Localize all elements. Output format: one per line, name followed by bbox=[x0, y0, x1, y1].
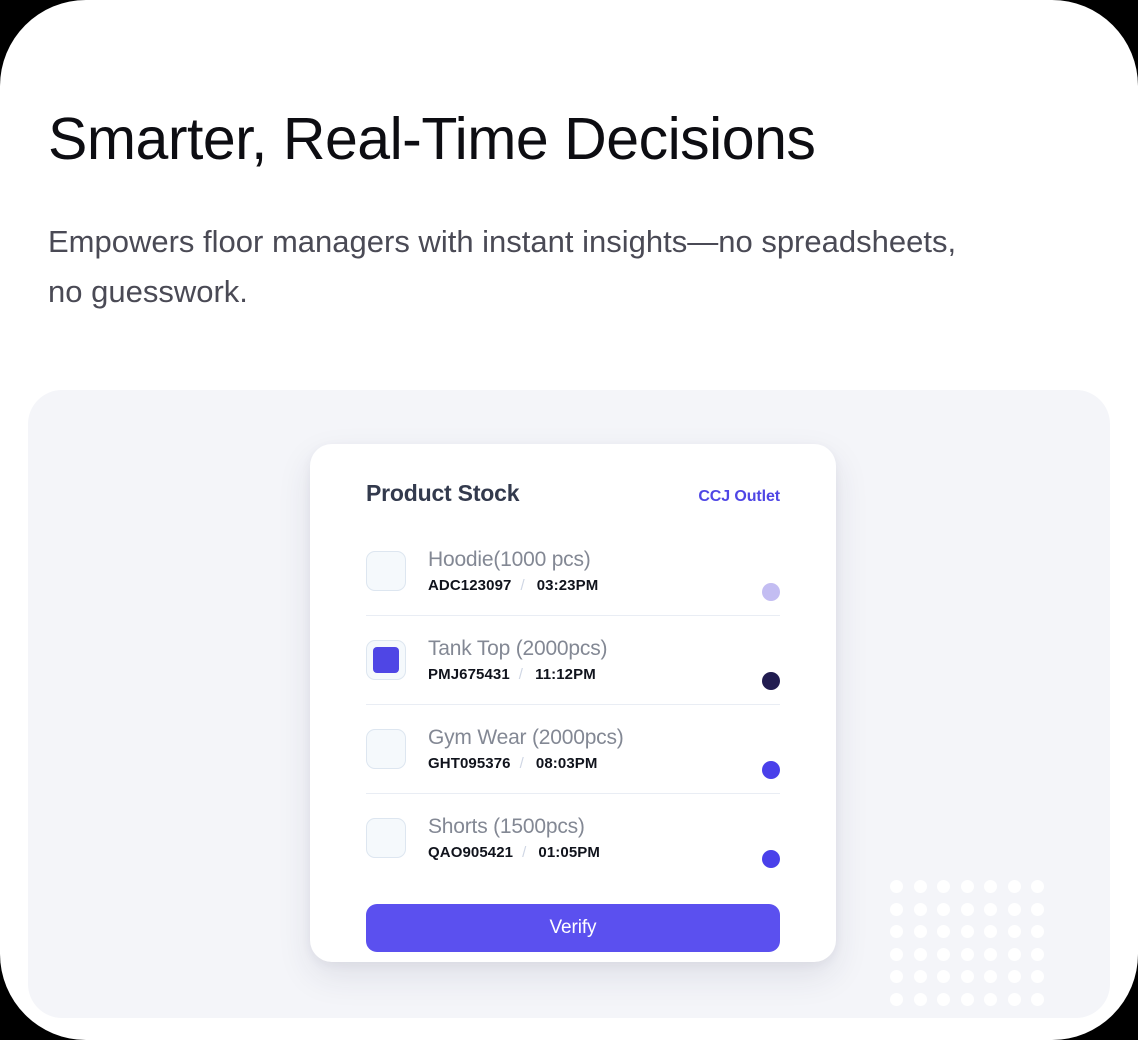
table-row[interactable]: Tank Top (2000pcs) PMJ675431/11:12PM bbox=[366, 616, 780, 705]
product-meta: QAO905421/01:05PM bbox=[428, 844, 762, 861]
row-checkbox[interactable] bbox=[366, 818, 406, 858]
decoration-dot bbox=[1031, 993, 1044, 1006]
page-subtitle: Empowers floor managers with instant ins… bbox=[48, 217, 988, 317]
product-time: 08:03PM bbox=[536, 755, 598, 772]
decoration-dot bbox=[984, 880, 997, 893]
decoration-dot bbox=[914, 925, 927, 938]
product-meta: GHT095376/08:03PM bbox=[428, 755, 762, 772]
decoration-dot bbox=[1031, 948, 1044, 961]
page-title: Smarter, Real-Time Decisions bbox=[48, 106, 1008, 172]
product-name: Tank Top (2000pcs) bbox=[428, 637, 762, 661]
decoration-dot bbox=[937, 948, 950, 961]
row-text: Hoodie(1000 pcs) ADC123097/03:23PM bbox=[428, 548, 762, 594]
decoration-dot bbox=[1031, 903, 1044, 916]
decoration-dot bbox=[1008, 948, 1021, 961]
product-name: Gym Wear (2000pcs) bbox=[428, 726, 762, 750]
decoration-dot bbox=[914, 948, 927, 961]
product-meta: ADC123097/03:23PM bbox=[428, 577, 762, 594]
decoration-dot bbox=[914, 970, 927, 983]
product-time: 11:12PM bbox=[535, 666, 596, 683]
checkbox-fill bbox=[373, 736, 399, 762]
product-stock-card: Product Stock CCJ Outlet Hoodie(1000 pcs… bbox=[310, 444, 836, 962]
decoration-dot bbox=[984, 948, 997, 961]
row-checkbox[interactable] bbox=[366, 551, 406, 591]
card-title: Product Stock bbox=[366, 480, 519, 507]
decoration-dot bbox=[984, 903, 997, 916]
decoration-dot bbox=[890, 903, 903, 916]
decoration-dot bbox=[890, 880, 903, 893]
decoration-dot bbox=[1031, 970, 1044, 983]
row-text: Gym Wear (2000pcs) GHT095376/08:03PM bbox=[428, 726, 762, 772]
decoration-dot bbox=[937, 903, 950, 916]
decoration-dot bbox=[961, 948, 974, 961]
card-header: Product Stock CCJ Outlet bbox=[366, 480, 780, 507]
product-row-list: Hoodie(1000 pcs) ADC123097/03:23PM Tank … bbox=[366, 527, 780, 882]
decoration-dot bbox=[890, 993, 903, 1006]
verify-button[interactable]: Verify bbox=[366, 904, 780, 952]
decoration-dot bbox=[961, 925, 974, 938]
meta-separator: / bbox=[519, 666, 523, 683]
table-row[interactable]: Hoodie(1000 pcs) ADC123097/03:23PM bbox=[366, 527, 780, 616]
decoration-dot bbox=[890, 970, 903, 983]
decoration-dot bbox=[1031, 925, 1044, 938]
decoration-dot bbox=[937, 880, 950, 893]
decoration-dot bbox=[937, 925, 950, 938]
meta-separator: / bbox=[522, 844, 526, 861]
row-text: Shorts (1500pcs) QAO905421/01:05PM bbox=[428, 815, 762, 861]
product-sku: QAO905421 bbox=[428, 844, 513, 861]
product-name: Shorts (1500pcs) bbox=[428, 815, 762, 839]
decoration-dot bbox=[1008, 903, 1021, 916]
decoration-dot bbox=[914, 993, 927, 1006]
checkbox-fill bbox=[373, 647, 399, 673]
product-meta: PMJ675431/11:12PM bbox=[428, 666, 762, 683]
product-name: Hoodie(1000 pcs) bbox=[428, 548, 762, 572]
decoration-dot bbox=[984, 970, 997, 983]
decoration-dot bbox=[914, 880, 927, 893]
product-sku: ADC123097 bbox=[428, 577, 511, 594]
decoration-dot bbox=[961, 903, 974, 916]
product-time: 03:23PM bbox=[537, 577, 599, 594]
status-dot-icon bbox=[762, 850, 780, 868]
meta-separator: / bbox=[520, 577, 524, 594]
decoration-dot bbox=[937, 993, 950, 1006]
decoration-dot bbox=[1008, 925, 1021, 938]
status-dot-icon bbox=[762, 672, 780, 690]
decoration-dot bbox=[890, 948, 903, 961]
decoration-dot bbox=[961, 993, 974, 1006]
product-time: 01:05PM bbox=[538, 844, 600, 861]
page-root: Smarter, Real-Time Decisions Empowers fl… bbox=[0, 0, 1138, 1040]
decoration-dot bbox=[1008, 993, 1021, 1006]
decoration-dot bbox=[1008, 970, 1021, 983]
product-sku: PMJ675431 bbox=[428, 666, 510, 683]
checkbox-fill bbox=[373, 558, 399, 584]
status-dot-icon bbox=[762, 583, 780, 601]
meta-separator: / bbox=[520, 755, 524, 772]
decoration-dot bbox=[937, 970, 950, 983]
decoration-dot bbox=[914, 903, 927, 916]
dot-grid-right-decoration bbox=[890, 880, 1055, 1015]
decoration-dot bbox=[961, 970, 974, 983]
decoration-dot bbox=[1008, 880, 1021, 893]
table-row[interactable]: Shorts (1500pcs) QAO905421/01:05PM bbox=[366, 794, 780, 882]
decoration-dot bbox=[890, 925, 903, 938]
row-checkbox[interactable] bbox=[366, 729, 406, 769]
row-checkbox[interactable] bbox=[366, 640, 406, 680]
table-row[interactable]: Gym Wear (2000pcs) GHT095376/08:03PM bbox=[366, 705, 780, 794]
decoration-dot bbox=[1031, 880, 1044, 893]
decoration-dot bbox=[984, 925, 997, 938]
status-dot-icon bbox=[762, 761, 780, 779]
decoration-dot bbox=[961, 880, 974, 893]
row-text: Tank Top (2000pcs) PMJ675431/11:12PM bbox=[428, 637, 762, 683]
outlet-label[interactable]: CCJ Outlet bbox=[698, 488, 780, 506]
product-sku: GHT095376 bbox=[428, 755, 511, 772]
decoration-dot bbox=[984, 993, 997, 1006]
checkbox-fill bbox=[373, 825, 399, 851]
